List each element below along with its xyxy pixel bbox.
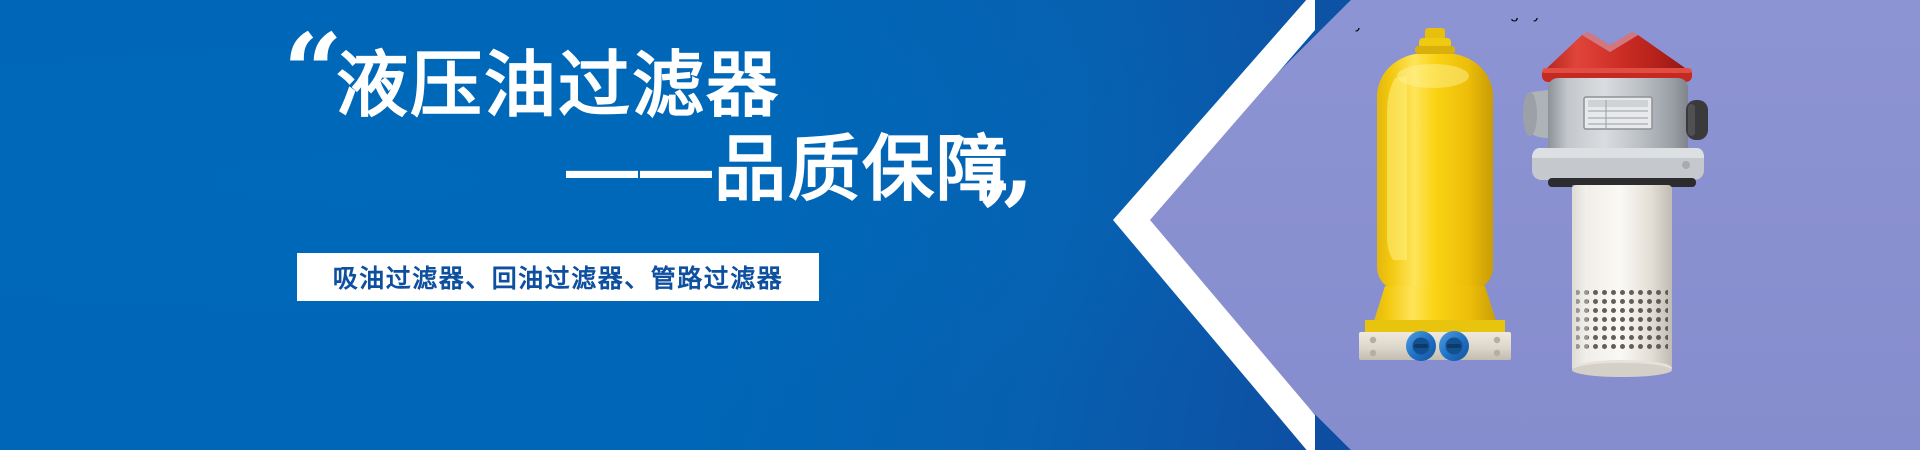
promo-banner: yellow-return-line-filter (0, 0, 1920, 450)
product-image-grey-suction-filter: grey-suction-filter (1510, 18, 1725, 388)
product-2-label: grey-suction-filter (1510, 18, 1633, 22)
product-image-yellow-return-filter: yellow-return-line-filter (1355, 28, 1515, 368)
subtitle-badge: 吸油过滤器、回油过滤器、管路过滤器 (297, 253, 819, 301)
banner-headline: 液压油过滤器 ——品质保障 (330, 44, 1030, 212)
subtitle-text: 吸油过滤器、回油过滤器、管路过滤器 (333, 259, 784, 295)
headline-line-1: 液压油过滤器 (330, 44, 1030, 128)
closing-quote-mark: ” (978, 170, 1029, 266)
product-1-label: yellow-return-line-filter (1355, 28, 1513, 32)
banner-text-block: “ 液压油过滤器 ——品质保障 ” 吸油过滤器、回油过滤器、管路过滤器 (0, 0, 1060, 450)
headline-line-2: ——品质保障 (330, 128, 1030, 212)
